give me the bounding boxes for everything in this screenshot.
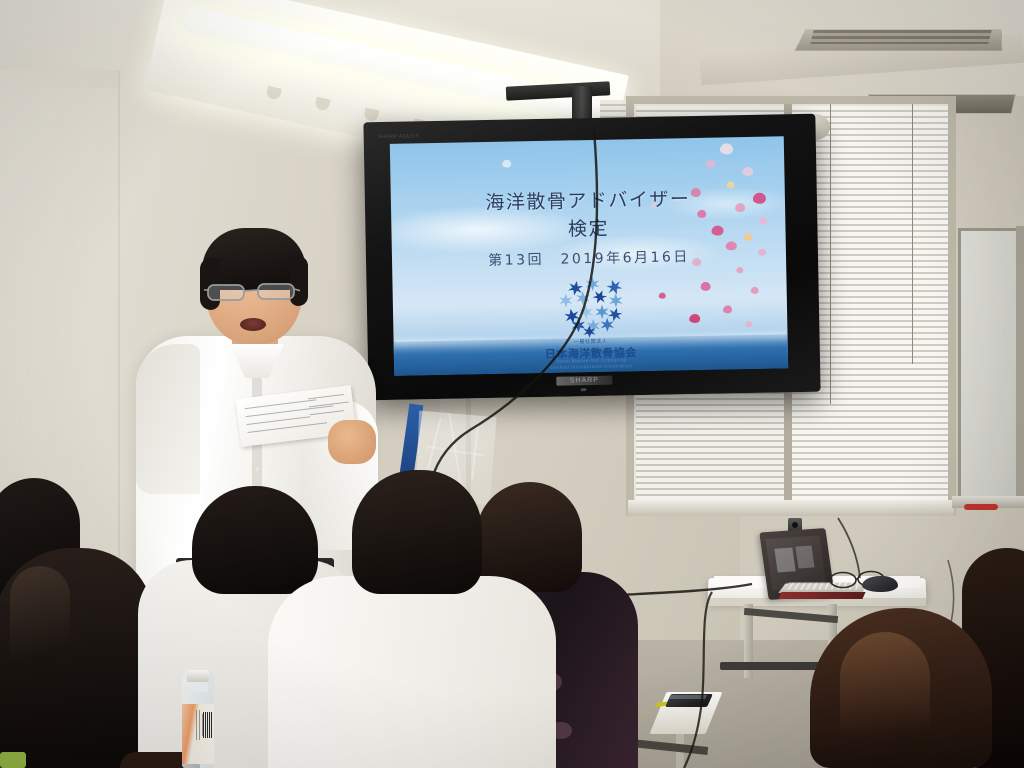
photo-vignette xyxy=(0,0,1024,768)
seminar-room-photo: SHARP AQUOS xyxy=(0,0,1024,768)
